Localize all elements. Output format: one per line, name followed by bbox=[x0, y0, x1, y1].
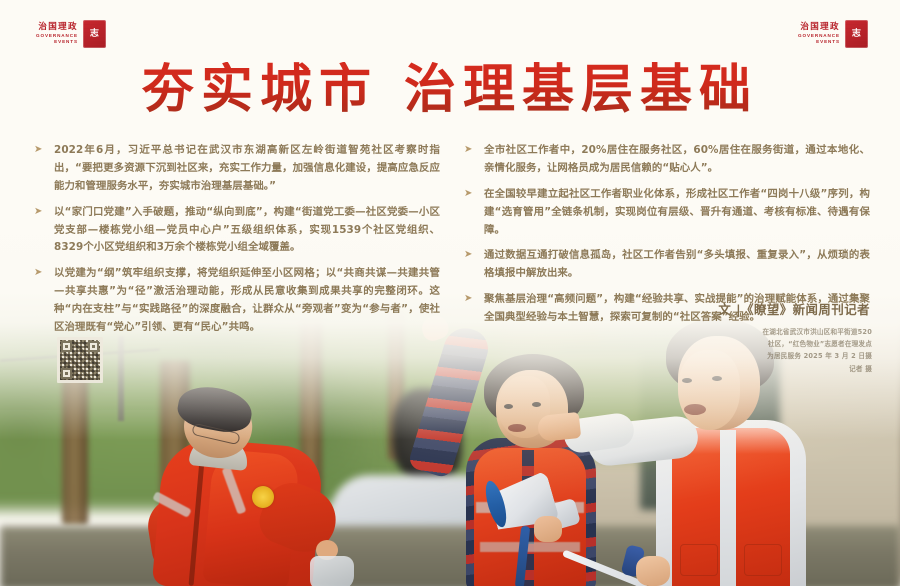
byline: 文 |《瞭望》新闻周刊记者 bbox=[718, 300, 870, 318]
list-item-text: 以党建为“纲”筑牢组织支撑，将党组织延伸至小区网格；以“共商共谋—共建共管—共享… bbox=[54, 265, 440, 337]
caption-line: 社区，“红色物业”志愿者在理发点 bbox=[704, 338, 872, 350]
logo-english-line2: EVENTS bbox=[816, 40, 840, 45]
arrow-bullet-icon: ➤ bbox=[34, 204, 46, 258]
title-part-2: 治理基层基础 bbox=[404, 60, 758, 120]
arrow-bullet-icon: ➤ bbox=[464, 186, 476, 240]
list-item: ➤ 全市社区工作者中，20%居住在服务社区，60%居住在服务街道，通过本地化、亲… bbox=[464, 142, 870, 178]
p2-mouth bbox=[508, 424, 526, 432]
title-part-1: 夯实城市 bbox=[142, 60, 378, 120]
logo-text-block: 治国理政 GOVERNANCE EVENTS bbox=[798, 23, 840, 44]
p2-eye bbox=[532, 402, 541, 407]
photo-pole bbox=[118, 336, 124, 421]
list-item-text: 2022年6月，习近平总书记在武汉市东湖高新区左岭街道智苑社区考察时指出，“要把… bbox=[54, 142, 440, 196]
list-item-text: 以“家门口党建”入手破题，推动“纵向到底”，构建“街道党工委—社区党委—小区党支… bbox=[54, 204, 440, 258]
qr-code-pattern bbox=[60, 340, 100, 380]
volunteer-bending-red-jacket bbox=[140, 390, 330, 586]
seal-icon: 志 bbox=[83, 20, 106, 48]
arrow-bullet-icon: ➤ bbox=[464, 142, 476, 178]
qr-finder-icon bbox=[61, 341, 72, 352]
p3-lower-hand bbox=[636, 556, 670, 586]
p3-vest-pocket bbox=[744, 544, 782, 576]
caption-line: 在湖北省武汉市洪山区和平街道520 bbox=[704, 326, 872, 338]
arrow-bullet-icon: ➤ bbox=[34, 265, 46, 337]
poster-page: 治国理政 GOVERNANCE EVENTS 志 治国理政 GOVERNANCE… bbox=[0, 0, 900, 586]
arrow-bullet-icon: ➤ bbox=[34, 142, 46, 196]
p3-vest-pocket bbox=[680, 544, 718, 576]
p3-mouth bbox=[684, 404, 706, 415]
left-column: ➤ 2022年6月，习近平总书记在武汉市东湖高新区左岭街道智苑社区考察时指出，“… bbox=[34, 142, 440, 345]
arrow-bullet-icon: ➤ bbox=[464, 247, 476, 283]
p3-eye bbox=[682, 378, 692, 383]
p1-party-emblem-badge bbox=[252, 486, 274, 508]
arrow-bullet-icon: ➤ bbox=[464, 291, 476, 327]
list-item: ➤ 以“家门口党建”入手破题，推动“纵向到底”，构建“街道党工委—社区党委—小区… bbox=[34, 204, 440, 258]
logo-chinese-text: 治国理政 bbox=[38, 23, 78, 32]
list-item: ➤ 2022年6月，习近平总书记在武汉市东湖高新区左岭街道智苑社区考察时指出，“… bbox=[34, 142, 440, 196]
p1-plastic-bag bbox=[310, 556, 354, 586]
qr-finder-icon bbox=[61, 368, 72, 379]
p3-pointing-hand bbox=[537, 412, 581, 442]
qr-code[interactable] bbox=[57, 337, 103, 383]
p2-eye bbox=[504, 404, 513, 409]
list-item-text: 通过数据互通打破信息孤岛，社区工作者告别“多头填报、重复录入”，从烦琐的表格填报… bbox=[484, 247, 870, 283]
list-item: ➤ 以党建为“纲”筑牢组织支撑，将党组织延伸至小区网格；以“共商共谋—共建共管—… bbox=[34, 265, 440, 337]
list-item: ➤ 通过数据互通打破信息孤岛，社区工作者告别“多头填报、重复录入”，从烦琐的表格… bbox=[464, 247, 870, 283]
photo-caption: 在湖北省武汉市洪山区和平街道520 社区，“红色物业”志愿者在理发点 为居民服务… bbox=[704, 326, 872, 375]
p2-hand-holding-megaphone bbox=[534, 516, 562, 542]
governance-events-logo-right: 治国理政 GOVERNANCE EVENTS 志 bbox=[798, 20, 868, 48]
page-title: 夯实城市治理基层基础 bbox=[0, 62, 900, 118]
caption-line: 记者 摄 bbox=[704, 363, 872, 375]
list-item-text: 在全国较早建立起社区工作者职业化体系，形成社区工作者“四岗十八级”序列，构建“选… bbox=[484, 186, 870, 240]
list-item-text: 全市社区工作者中，20%居住在服务社区，60%居住在服务街道，通过本地化、亲情化… bbox=[484, 142, 870, 178]
logo-english-line2: EVENTS bbox=[54, 40, 78, 45]
p3-vest-opening bbox=[720, 430, 736, 586]
logo-text-block: 治国理政 GOVERNANCE EVENTS bbox=[36, 23, 78, 44]
seal-icon: 志 bbox=[845, 20, 868, 48]
list-item: ➤ 在全国较早建立起社区工作者职业化体系，形成社区工作者“四岗十八级”序列，构建… bbox=[464, 186, 870, 240]
logo-chinese-text: 治国理政 bbox=[800, 23, 840, 32]
caption-line: 为居民服务 2025 年 3 月 2 日摄 bbox=[704, 350, 872, 362]
governance-events-logo-left: 治国理政 GOVERNANCE EVENTS 志 bbox=[36, 20, 106, 48]
qr-finder-icon bbox=[88, 341, 99, 352]
p3-eye bbox=[712, 376, 722, 381]
